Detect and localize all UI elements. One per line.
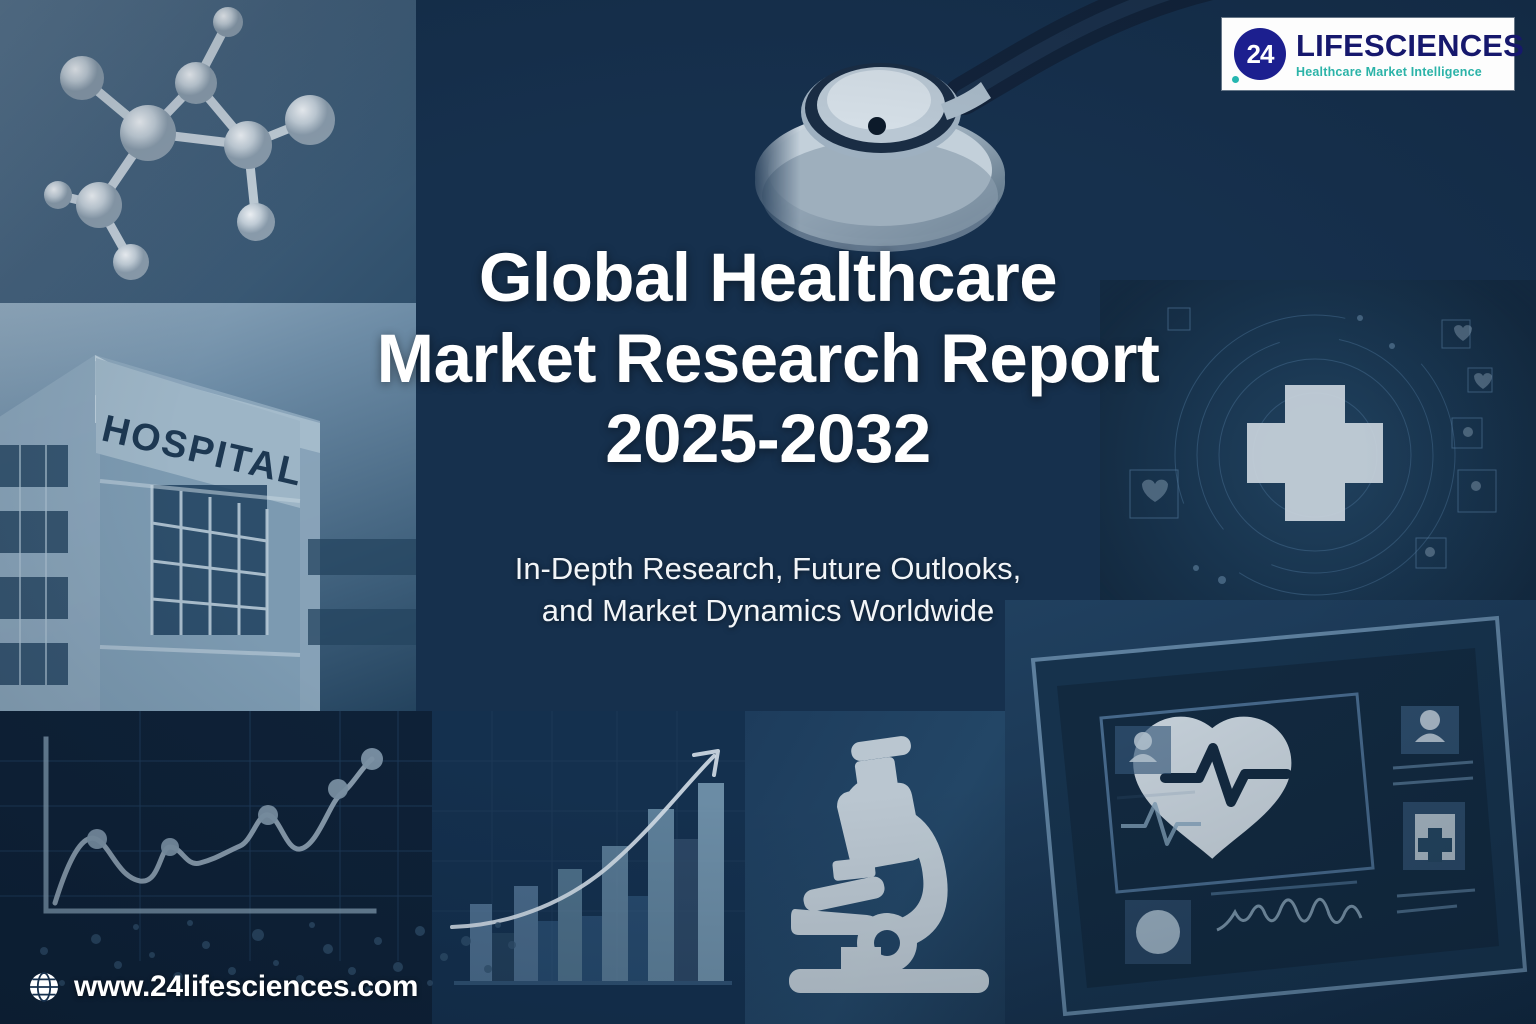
microscope-panel [745, 711, 1045, 1024]
medical-cross-panel [1100, 280, 1536, 640]
tablet-dashboard-icon [1005, 600, 1536, 1024]
globe-icon [28, 971, 60, 1003]
logo-title: LIFESCIENCES [1296, 30, 1524, 61]
hospital-building-icon: HOSPITAL [0, 303, 416, 711]
hospital-panel: HOSPITAL [0, 303, 416, 711]
tablet-panel [1005, 600, 1536, 1024]
logo-accent-dot [1232, 76, 1239, 83]
footer-bar: www.24lifesciences.com [28, 970, 418, 1004]
molecule-panel [0, 0, 416, 303]
logo-mark-text: 24 [1247, 39, 1274, 70]
stethoscope-panel [745, 0, 1225, 300]
medical-cross-icon [1100, 280, 1536, 640]
poster-canvas: HOSPITAL [0, 0, 1536, 1024]
stethoscope-icon [745, 0, 1225, 300]
brand-logo[interactable]: 24 LIFESCIENCES Healthcare Market Intell… [1222, 18, 1514, 90]
logo-wordmark: LIFESCIENCES Healthcare Market Intellige… [1296, 30, 1524, 79]
molecule-icon [0, 0, 416, 303]
website-url[interactable]: www.24lifesciences.com [74, 970, 418, 1004]
logo-tagline: Healthcare Market Intelligence [1296, 66, 1524, 79]
logo-mark: 24 [1234, 28, 1286, 80]
microscope-icon [745, 711, 1045, 1024]
